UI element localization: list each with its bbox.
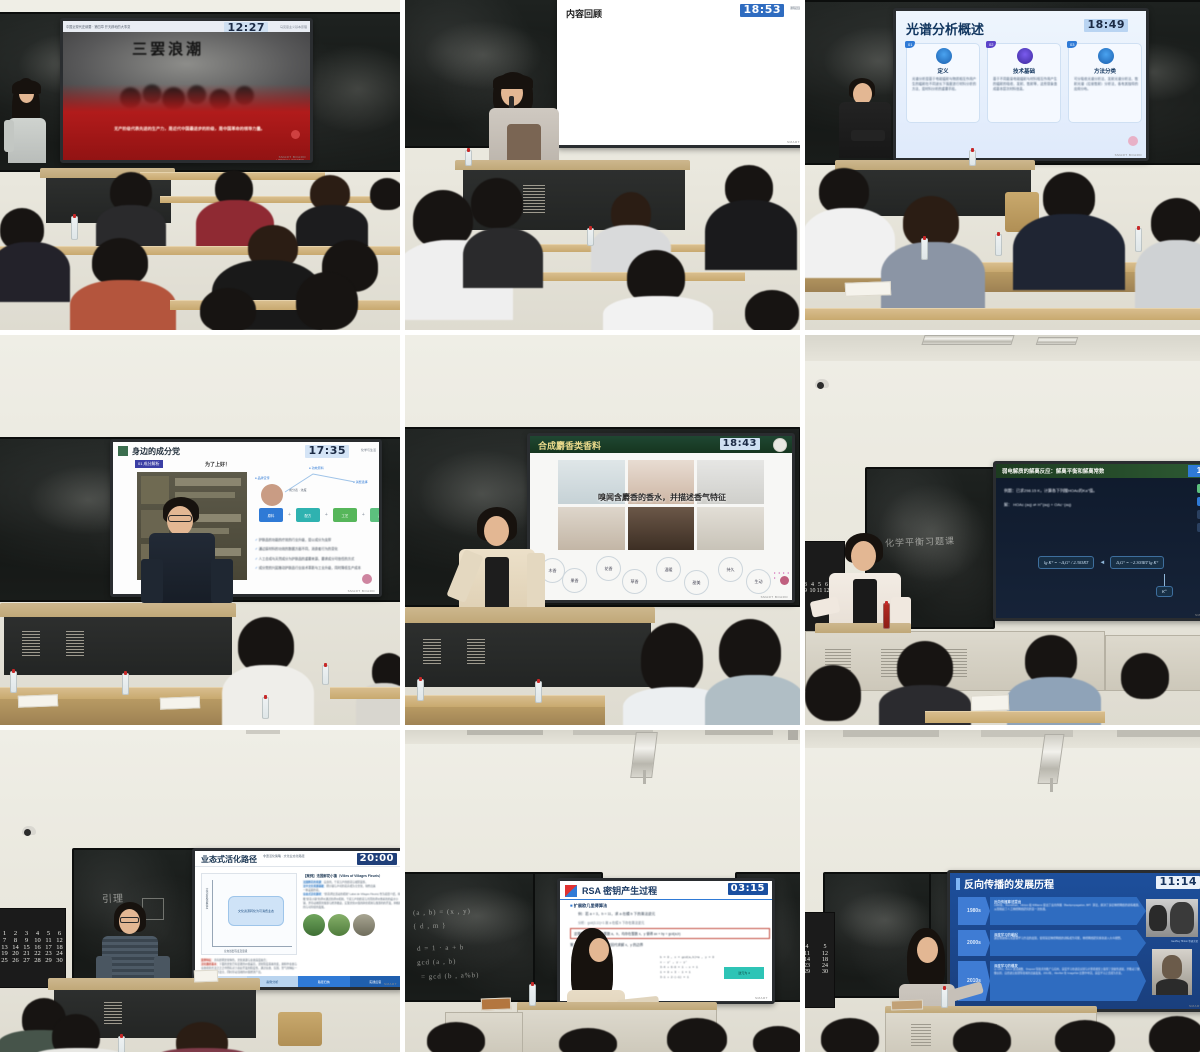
slide-headline-5: 合成麝香类香料: [538, 439, 601, 452]
slide-activation: 业态式活化路径 非遗活化策略 · 文化业态化路径 20:00 文化价值保留程度 …: [195, 851, 400, 987]
slide-page-badge: 1: [1188, 465, 1200, 477]
screen-brand-label: SMART BOARD: [348, 589, 375, 593]
slide-clock-4: 17:35: [305, 445, 349, 458]
card-number: 01: [905, 41, 915, 48]
slide-footer-1: 中国近现代史纲要课程组: [275, 159, 304, 160]
slide-photo-caption: 三罢浪潮: [132, 38, 204, 59]
slide-headline-2: 内容回顾: [566, 7, 602, 20]
lectern-top: [835, 160, 1035, 170]
projection-screen: 反向传播的发展历程 11:14 1980s 反向传播算法提出 1986年，Rum…: [947, 870, 1200, 1012]
slide-clock-9: 11:14: [1156, 876, 1200, 889]
bullet-item: 人工合成与天然成分为护肤品的重要来源，要求成分可信任的方式: [259, 557, 355, 561]
slide-card: 01 定义 光谱分析是基于电磁辐射与物质相互作用产生的辐射在不同波长下强度进行材…: [906, 43, 980, 123]
slide-corner-note: 马克思主义基本原理: [280, 25, 307, 29]
timeline-era: 1980s: [958, 897, 990, 925]
keyword-bubble: 果香: [562, 568, 587, 593]
slide-overlay-text: 嗅闻含麝香的香水，并描述香气特征: [562, 492, 762, 503]
photo-grid: 中国近现代史纲要 · 第四章 开天辟地的大事变 12:27 马克思主义基本原理 …: [0, 0, 1200, 1052]
slide-headline-1: 无产阶级代表先进的生产力，是近代中国最进步的阶级，是中国革命的领导力量。: [69, 126, 310, 132]
slide-headline-8: RSA 密钥产生过程: [582, 884, 657, 897]
formula-node: K°: [1156, 586, 1173, 597]
screen-brand-label: SMART BOARD: [279, 155, 306, 159]
slide-formulas: lg K° = −Δ,G° / 2.303RT ◄ Δ,G° = −2.303R…: [1038, 556, 1164, 569]
case-title: 【案例】法国鲜花小镇（Villes of Villages Fleuris）: [303, 873, 400, 878]
slide-ideology: 中国近现代史纲要 · 第四章 开天辟地的大事变 12:27 马克思主义基本原理 …: [63, 21, 310, 160]
screen-brand-label: SMART: [755, 996, 768, 1000]
lectern-top: [0, 603, 236, 617]
card-number: 03: [1067, 41, 1077, 48]
projection-screen: 光谱分析概述 18:49 01 定义 光谱分析是基于电磁辐射与物质相互作用产生的…: [893, 8, 1149, 161]
projection-screen: 弱电解质的解离反应：解离平衡和解离常数 1 例题：已求298.15 K，计算各下…: [993, 461, 1200, 621]
card-body: 基于不同能量电磁辐射与材料相互作用产生的辐射的吸收、发射、散射等，这些现象造成基…: [993, 77, 1057, 92]
timeline-era: 2000s: [958, 930, 990, 956]
timeline-body: 逐层预训练与无监督学习方法的出现，使得深层神经网络的训练成为可能，神经网络研究重…: [994, 937, 1142, 941]
slide-badge: 01 成分解析: [135, 460, 163, 468]
card-icon: [1017, 48, 1033, 64]
university-seal-icon: [773, 438, 787, 452]
screen-brand-label: SMART: [1189, 1004, 1200, 1008]
card-body: 光谱分析是基于电磁辐射与物质相互作用产生的辐射在不同波长下强度进行材料分析的方法…: [912, 77, 976, 92]
timeline-body: 1986年，Rumelhart、Hinton 和 Williams 提出了反向传…: [994, 904, 1142, 912]
chart-xlabel: 业态嵌套程度及量级: [224, 949, 247, 953]
formula-left: lg K° = −Δ,G° / 2.303RT: [1038, 556, 1094, 569]
keyword-bubble: 温暖: [656, 557, 681, 582]
bullet-item: 分析：gcd(3,11)=1 故 a 在模 b 下存在乘法逆元: [578, 920, 770, 925]
lectern-body: [405, 623, 651, 687]
slide-review: 内容回顾 18:53 课程回顾: [557, 0, 800, 145]
slide-clock-3: 18:49: [1084, 19, 1128, 32]
slide-logo-icon: [118, 446, 128, 456]
chalk-text: 引理: [102, 890, 125, 906]
keyword-bubble: 持久: [718, 557, 743, 582]
lectern-top: [517, 1002, 717, 1010]
chart-box: 文化资源转化为可消费业态: [228, 896, 284, 926]
bullet-item: 通过原材料的功效的数据方面不同，消费者行为的变化: [259, 547, 338, 551]
slide-subtitle-4: 为了上好！: [205, 461, 230, 468]
slide-headline-6: 弱电解质的解离反应：解离平衡和解离常数: [1002, 467, 1104, 475]
flow-step: 产品: [370, 508, 379, 522]
flow-step: 工艺: [333, 508, 357, 522]
slide-clock-5: 18:43: [720, 438, 760, 450]
slide-clock-8: 03:15: [728, 883, 768, 895]
photo-tile-8[interactable]: (a , b) = (x , y) { d , m } d = 1 · a + …: [405, 730, 800, 1052]
chart-ylabel: 文化价值保留程度: [204, 888, 208, 909]
timeline-body: 以 GPU、ReLU 激活函数、Dropout 等技术的推广与应用，深度学习在语…: [994, 968, 1142, 975]
photo-tile-2[interactable]: 内容回顾 18:53 课程回顾 SMART: [405, 0, 800, 330]
slide-musk: 合成麝香类香料 18:43 嗅闻含麝香的香水，并描述香气特征 木香 果香: [530, 436, 792, 600]
keyword-bubble: 花香: [596, 556, 621, 581]
screen-brand-label: SMART BOARD: [761, 595, 788, 599]
card-icon: [936, 48, 952, 64]
card-title: 技术基础: [988, 67, 1060, 75]
screen-brand-label: SMART BOARD: [1115, 153, 1142, 157]
bullet-item: 护肤品的功能的疗效的行业升级，是以成分为支撑: [259, 538, 332, 542]
example-line: 例题：已求298.15 K，计算各下列酸HOAc的Ka°值。: [1004, 488, 1194, 494]
slide-card: 03 方法分类 可分吸收光谱分析法、发射光谱分析法、散射光谱（拉曼散射）分析法，…: [1068, 43, 1142, 123]
screen-brand-label: SMART: [384, 982, 397, 986]
calendar-pocket-chart: 1 2 3 4 5 6 7 8 9 10 11 12 13 14 15 16 1…: [0, 908, 66, 988]
card-title: 方法分类: [1069, 67, 1141, 75]
slide-timeline: 1980s 反向传播算法提出 1986年，Rumelhart、Hinton 和 …: [958, 897, 1146, 1001]
slide-spectral: 光谱分析概述 18:49 01 定义 光谱分析是基于电磁辐射与物质相互作用产生的…: [896, 11, 1146, 158]
calendar-pocket-chart: 4 5 11 12 14 18 23 24 29 30: [805, 912, 835, 1008]
ceiling-rail: [246, 730, 280, 734]
chalk-text: 化学平衡习题课: [885, 534, 955, 549]
slide-chart: 文化价值保留程度 业态嵌套程度及量级 文化资源转化为可消费业态: [201, 873, 297, 955]
keyword-bubble: 甜美: [684, 570, 709, 595]
glasses-icon: [120, 917, 139, 923]
slide-card: 02 技术基础 基于不同能量电磁辐射与材料相互作用产生的辐射的吸收、发射、散射等…: [987, 43, 1061, 123]
photo-tile-6[interactable]: 化学平衡习题课 弱电解质的解离反应：解离平衡和解离常数 1 例题：已求298.1…: [805, 335, 1200, 725]
slide-clock-2: 18:53: [740, 4, 784, 17]
slide-keywords: 木香 果香 花香 草香 温暖 甜美 持久 生动 • • • • •: [534, 556, 792, 594]
slide-corner-note: 课程回顾: [790, 6, 800, 10]
photo-tile-3[interactable]: 光谱分析概述 18:49 01 定义 光谱分析是基于电磁辐射与物质相互作用产生的…: [805, 0, 1200, 330]
photo-tile-7[interactable]: 引理 1 2 3 4 5 6 7 8 9 10 11 12 13 14 15 1…: [0, 730, 400, 1052]
slide-photo-grid: [558, 460, 764, 550]
slide-subtitle-7: 非遗活化策略 · 文化业态化路径: [263, 854, 305, 858]
slide-accent-bar: [956, 878, 960, 890]
card-number: 02: [986, 41, 996, 48]
card-title: 定义: [907, 67, 979, 75]
projection-screen: 中国近现代史纲要 · 第四章 开天辟地的大事变 12:27 马克思主义基本原理 …: [60, 18, 313, 163]
slide-seal-icon: [780, 576, 789, 585]
card-body: 可分吸收光谱分析法、发射光谱分析法、散射光谱（拉曼散射）分析法，各有其独特的应用…: [1074, 77, 1138, 92]
slide-tab: 路径归纳: [298, 976, 350, 987]
projection-screen: 内容回顾 18:53 课程回顾 SMART: [557, 0, 800, 148]
slide-headline-4: 身边的成分党: [132, 446, 180, 457]
screen-brand-label: SMART: [1195, 613, 1200, 617]
photo-tile-4[interactable]: 身边的成分党 17:35 化学与生活 01 成分解析 为了上好！: [0, 335, 400, 725]
slide-electrolyte: 弱电解质的解离反应：解离平衡和解离常数 1 例题：已求298.15 K，计算各下…: [996, 464, 1200, 618]
slide-backprop: 反向传播的发展历程 11:14 1980s 反向传播算法提出 1986年，Rum…: [950, 873, 1200, 1009]
projection-screen: 业态式活化路径 非遗活化策略 · 文化业态化路径 20:00 文化价值保留程度 …: [192, 848, 400, 990]
lectern-top: [815, 623, 911, 633]
lectern-top: [405, 607, 655, 623]
slide-seal-icon: [362, 574, 372, 584]
slide-headline-7: 业态式活化路径: [201, 854, 257, 865]
photo-tile-5[interactable]: 合成麝香类香料 18:43 嗅闻含麝香的香水，并描述香气特征 木香 果香: [405, 335, 800, 725]
slide-headline-9: 反向传播的发展历程: [964, 876, 1054, 891]
formula-right: Δ,G° = −2.303RT lg K°: [1110, 556, 1164, 569]
slide-bullets: ✓ 护肤品的功能的疗效的行业升级，是以成分为支撑 ✓ 通过原材料的功效的数据方面…: [255, 538, 379, 570]
cctv-camera-icon: [815, 379, 829, 388]
screen-brand-label: SMART: [787, 140, 800, 144]
cctv-camera-icon: [22, 826, 36, 835]
slide-highlight: 逆元为 4: [724, 967, 764, 979]
keyword-bubble: 生动: [746, 569, 771, 594]
slide-clock-7: 20:00: [357, 853, 397, 865]
lectern-top: [48, 978, 260, 990]
keyword-bubble: 草香: [622, 569, 647, 594]
card-icon: [1098, 48, 1114, 64]
slide-seal-icon: [1128, 136, 1138, 146]
slide-body-6: 例题：已求298.15 K，计算各下列酸HOAc的Ka°值。 解： HOAc (…: [1004, 488, 1194, 508]
glasses-icon: [168, 515, 192, 522]
slide-mindmap: ● 品牌宣传 ● 功效原料 ● 消费选择 成分表 · 浓度: [255, 464, 379, 504]
portrait-photo: [1152, 949, 1192, 995]
photo-tile-9[interactable]: 4 5 11 12 14 18 23 24 29 30 反向传播的发展历程 11…: [805, 730, 1200, 1052]
slide-case-column: 【案例】法国鲜花小镇（Villes of Villages Fleuris） 法…: [303, 873, 400, 936]
equation-line: 解： HOAc (aq) ⇌ H⁺(aq) + OAc⁻(aq): [1004, 502, 1194, 508]
portrait-caption: Geoffrey Hinton 等研究者: [1171, 939, 1198, 943]
lectern-top: [455, 160, 690, 170]
flow-step: 原料: [259, 508, 283, 522]
flow-step: 配方: [296, 508, 320, 522]
bullet-item: 例：若 a = 3，b = 11，求 a 在模 b 下的乘法逆元: [578, 912, 770, 917]
bullet-item: 成分党的兴起推动护肤品行业技术革新与工业升级，同时降低生产成本: [259, 566, 361, 570]
slide-seal-icon: [291, 130, 300, 139]
portrait-photo: [1146, 899, 1198, 937]
slide-headline-3: 光谱分析概述: [906, 19, 984, 38]
photo-tile-1[interactable]: 中国近现代史纲要 · 第四章 开天辟地的大事变 12:27 马克思主义基本原理 …: [0, 0, 400, 330]
bullet-item: 扩展欧几里得算法: [574, 903, 608, 908]
slide-flow: 原料 + 配方 + 工艺 + 产品: [259, 508, 379, 522]
slide-header-note: 中国近现代史纲要 · 第四章 开天辟地的大事变: [66, 24, 130, 29]
projection-screen: 合成麝香类香料 18:43 嗅闻含麝香的香水，并描述香气特征 木香 果香: [527, 433, 795, 603]
slide-logo-icon: [565, 885, 577, 897]
